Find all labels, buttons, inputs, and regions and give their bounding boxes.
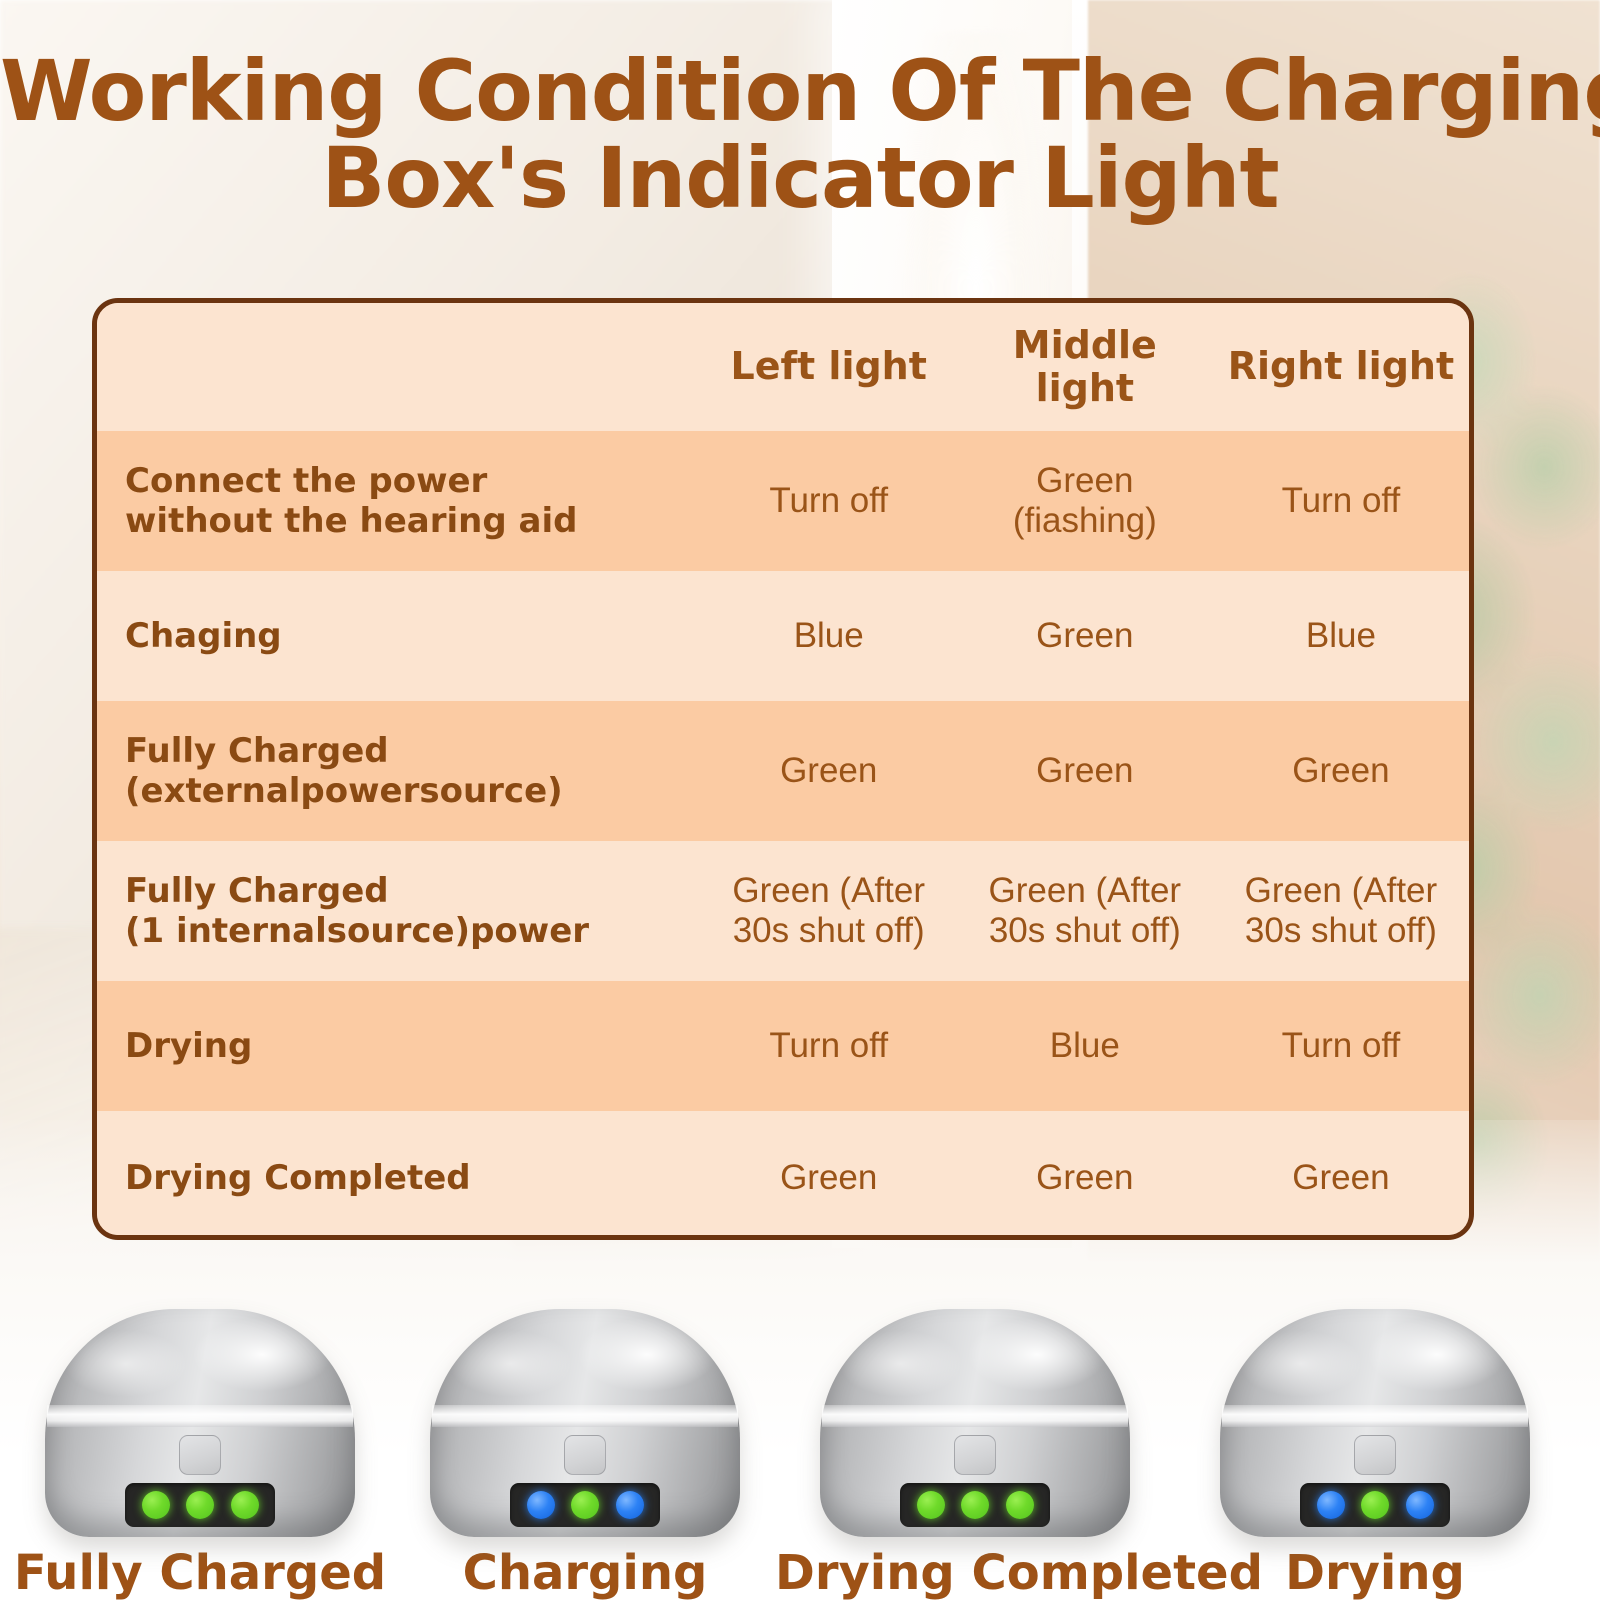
table-row: Connect the power without the hearing ai… (97, 431, 1469, 571)
cell-left-light: Green (After 30s shut off) (701, 871, 957, 951)
product-state-drying: Drying (1175, 1309, 1575, 1600)
table-row: Drying Turn off Blue Turn off (97, 981, 1469, 1111)
case-seam (47, 1405, 353, 1427)
case-seam (822, 1405, 1128, 1427)
product-state-drying-completed: Drying Completed (775, 1309, 1175, 1600)
cell-right-light: Blue (1213, 616, 1469, 656)
row-label-line-1: Fully Charged (125, 871, 695, 911)
cell-left-light: Blue (701, 616, 957, 656)
cell-middle-light: Green (fiashing) (957, 461, 1213, 541)
row-label: Fully Charged (1 internalsource)power (97, 871, 701, 951)
table-row: Fully Charged (externalpowersource) Gree… (97, 701, 1469, 841)
led-left (527, 1491, 555, 1519)
case-button (954, 1435, 996, 1475)
row-label: Connect the power without the hearing ai… (97, 461, 701, 541)
led-middle (571, 1491, 599, 1519)
cell-middle-line-2: (fiashing) (961, 501, 1209, 541)
led-strip (510, 1483, 660, 1527)
led-middle (186, 1491, 214, 1519)
charging-case-icon (45, 1309, 355, 1541)
cell-middle-light: Green (957, 616, 1213, 656)
row-label: Drying (97, 1026, 701, 1066)
product-state-label: Drying (1175, 1547, 1575, 1600)
case-button (1354, 1435, 1396, 1475)
cell-middle-light: Green (957, 751, 1213, 791)
charging-case-icon (430, 1309, 740, 1541)
cell-left-line-1: Green (After (705, 871, 953, 911)
product-state-label: Charging (385, 1547, 785, 1600)
row-label: Chaging (97, 616, 701, 656)
led-strip (900, 1483, 1050, 1527)
cell-right-light: Green (After 30s shut off) (1213, 871, 1469, 951)
led-middle (961, 1491, 989, 1519)
case-seam (432, 1405, 738, 1427)
page-title: Working Condition Of The Charging Box's … (0, 48, 1600, 223)
cell-left-light: Green (701, 1158, 957, 1198)
cell-middle-light: Green (After 30s shut off) (957, 871, 1213, 951)
cell-left-light: Turn off (701, 481, 957, 521)
table-row: Chaging Blue Green Blue (97, 571, 1469, 701)
cell-middle-light: Blue (957, 1026, 1213, 1066)
case-button (179, 1435, 221, 1475)
row-label: Drying Completed (97, 1158, 701, 1198)
led-middle (1361, 1491, 1389, 1519)
cell-left-light: Turn off (701, 1026, 957, 1066)
led-strip (1300, 1483, 1450, 1527)
table-header-row: Left light Middle light Right light (97, 303, 1469, 431)
led-left (142, 1491, 170, 1519)
table-header-middle-light: Middle light (957, 324, 1213, 411)
product-state-fully-charged: Fully Charged (0, 1309, 400, 1600)
table-header-left-light: Left light (701, 345, 957, 388)
cell-right-line-1: Green (After (1217, 871, 1465, 911)
cell-left-line-2: 30s shut off) (705, 911, 953, 951)
case-button (564, 1435, 606, 1475)
cell-right-line-2: 30s shut off) (1217, 911, 1465, 951)
page-title-line-1: Working Condition Of The Charging (0, 48, 1600, 135)
row-label-line-1: Fully Charged (125, 731, 695, 771)
product-state-label: Drying Completed (775, 1547, 1175, 1600)
table-header-right-light: Right light (1213, 345, 1469, 388)
table-row: Fully Charged (1 internalsource)power Gr… (97, 841, 1469, 981)
row-label: Fully Charged (externalpowersource) (97, 731, 701, 811)
table-row: Drying Completed Green Green Green (97, 1111, 1469, 1240)
led-right (231, 1491, 259, 1519)
cell-middle-line-1: Green (961, 461, 1209, 501)
cell-right-light: Turn off (1213, 1026, 1469, 1066)
led-strip (125, 1483, 275, 1527)
row-label-line-1: Connect the power (125, 461, 695, 501)
case-seam (1222, 1405, 1528, 1427)
indicator-light-table: Left light Middle light Right light Conn… (92, 298, 1474, 1240)
row-label-line-2: (externalpowersource) (125, 771, 695, 811)
led-right (1406, 1491, 1434, 1519)
led-right (1006, 1491, 1034, 1519)
cell-right-light: Turn off (1213, 481, 1469, 521)
led-right (616, 1491, 644, 1519)
row-label-line-2: (1 internalsource)power (125, 911, 695, 951)
page-title-line-2: Box's Indicator Light (0, 135, 1600, 222)
led-left (1317, 1491, 1345, 1519)
product-state-label: Fully Charged (0, 1547, 400, 1600)
cell-right-light: Green (1213, 1158, 1469, 1198)
charging-case-icon (1220, 1309, 1530, 1541)
cell-middle-line-2: 30s shut off) (961, 911, 1209, 951)
cell-middle-line-1: Green (After (961, 871, 1209, 911)
product-states-row: Fully Charged Charging Drying Comp (0, 1240, 1600, 1600)
cell-middle-light: Green (957, 1158, 1213, 1198)
cell-right-light: Green (1213, 751, 1469, 791)
led-left (917, 1491, 945, 1519)
cell-left-light: Green (701, 751, 957, 791)
product-state-charging: Charging (385, 1309, 785, 1600)
row-label-line-2: without the hearing aid (125, 501, 695, 541)
charging-case-icon (820, 1309, 1130, 1541)
